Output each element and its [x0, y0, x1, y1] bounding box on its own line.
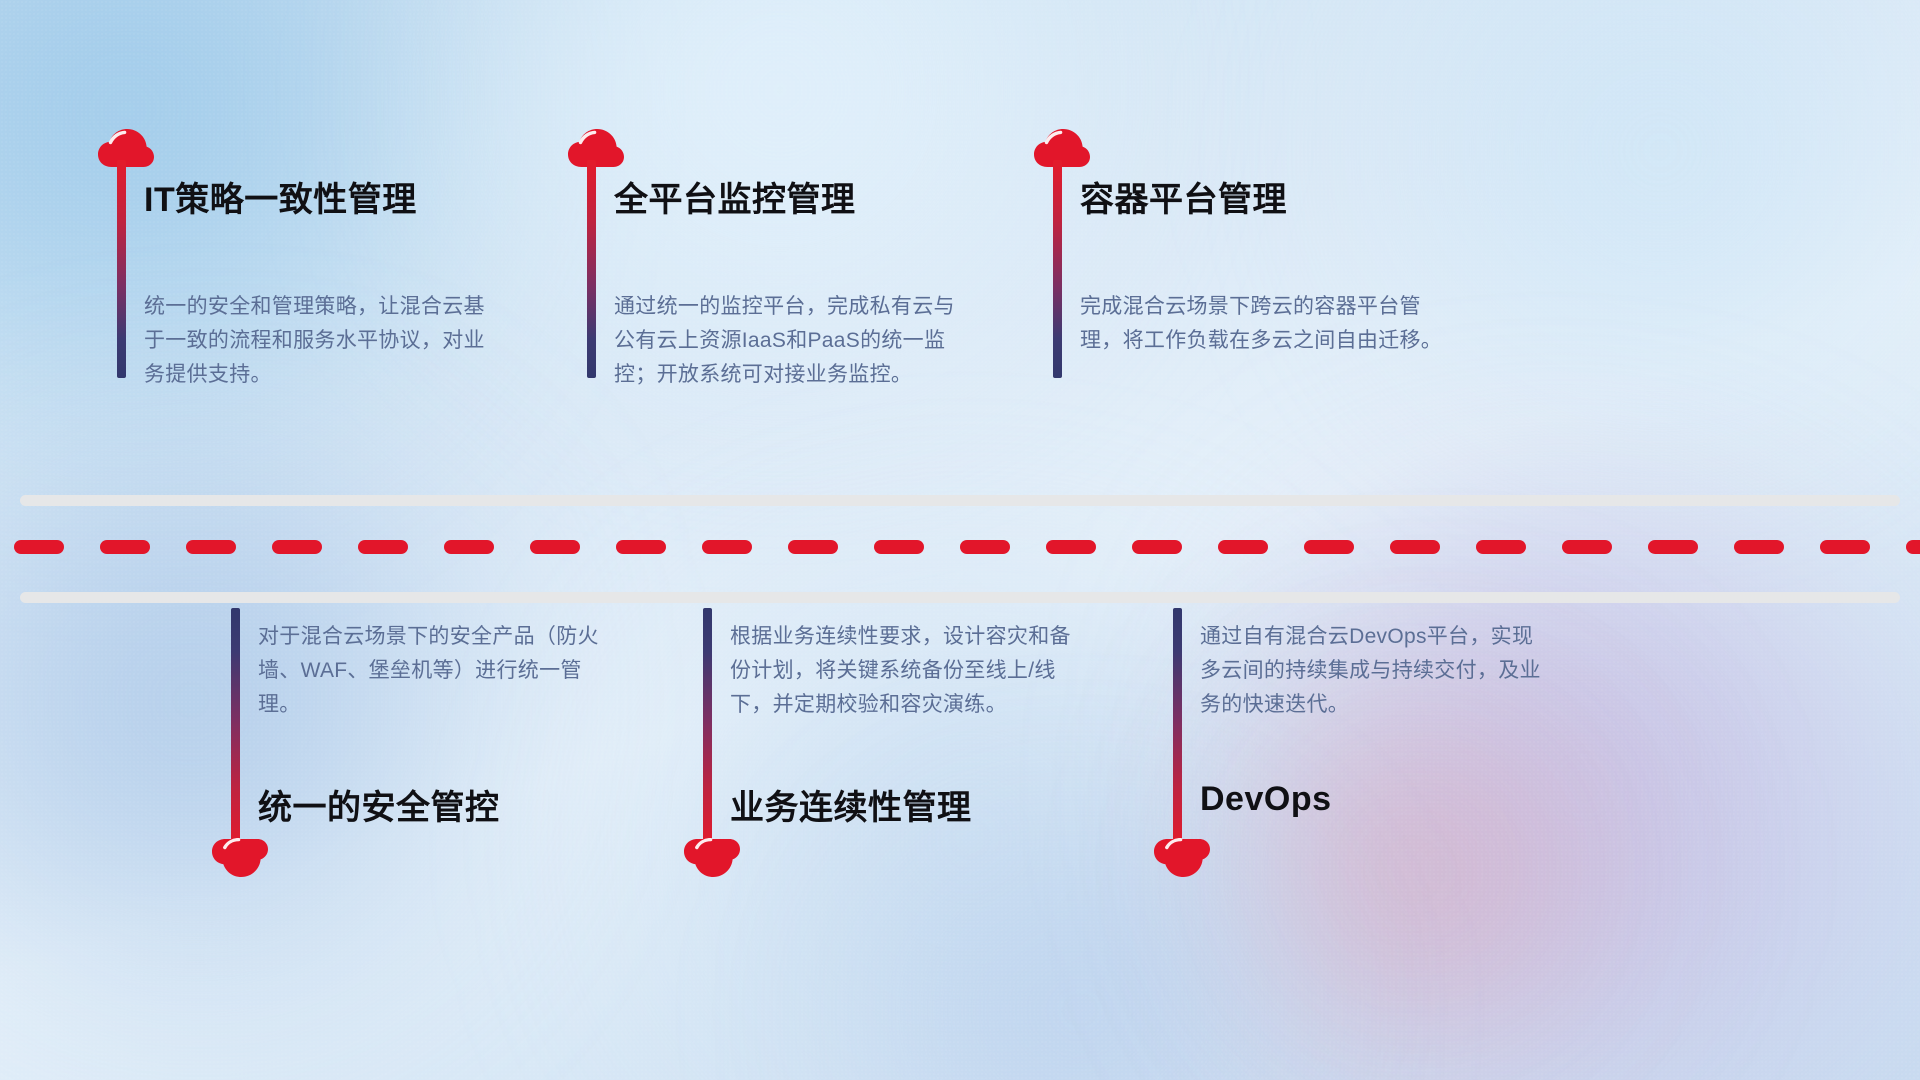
- divider-dash: [100, 540, 150, 554]
- connector-line: [1053, 160, 1062, 378]
- marker-top-1: [97, 128, 157, 168]
- divider-dash: [186, 540, 236, 554]
- divider-dash: [788, 540, 838, 554]
- divider-dash: [1820, 540, 1870, 554]
- cloud-icon: [567, 128, 625, 168]
- feature-card-business-continuity: 根据业务连续性要求，设计容灾和备份计划，将关键系统备份至线上/线下，并定期校验和…: [668, 610, 1118, 1080]
- feature-card-devops: 通过自有混合云DevOps平台，实现多云间的持续集成与持续交付，及业务的快速迭代…: [1138, 610, 1588, 1080]
- divider-dash: [530, 540, 580, 554]
- cloud-icon: [97, 128, 155, 168]
- marker-top-3: [1033, 128, 1093, 168]
- cloud-icon: [211, 838, 269, 878]
- feature-card-platform-monitoring: 全平台监控管理 通过统一的监控平台，完成私有云与公有云上资源IaaS和PaaS的…: [552, 0, 1012, 440]
- divider-dash: [1132, 540, 1182, 554]
- top-feature-row: IT策略一致性管理 统一的安全和管理策略，让混合云基于一致的流程和服务水平协议，…: [0, 0, 1920, 440]
- divider-dash: [1476, 540, 1526, 554]
- connector-line: [231, 608, 240, 848]
- feature-title: 全平台监控管理: [614, 172, 856, 221]
- dashed-divider: [0, 540, 1920, 554]
- feature-title: IT策略一致性管理: [144, 172, 417, 221]
- divider-dash: [358, 540, 408, 554]
- divider-dash: [702, 540, 752, 554]
- bottom-feature-row: 对于混合云场景下的安全产品（防火墙、WAF、堡垒机等）进行统一管理。 统一的安全…: [0, 610, 1920, 1080]
- divider-dash: [960, 540, 1010, 554]
- feature-title: DevOps: [1200, 780, 1332, 819]
- divider-dash: [14, 540, 64, 554]
- divider-dash: [1906, 540, 1920, 554]
- divider-band: [0, 440, 1920, 610]
- feature-title: 业务连续性管理: [730, 780, 972, 829]
- divider-dash: [616, 540, 666, 554]
- feature-title: 统一的安全管控: [258, 780, 500, 829]
- divider-dash: [272, 540, 322, 554]
- feature-description: 统一的安全和管理策略，让混合云基于一致的流程和服务水平协议，对业务提供支持。: [144, 290, 502, 392]
- cloud-icon: [683, 838, 741, 878]
- divider-bar-bottom: [20, 592, 1900, 603]
- divider-dash: [1390, 540, 1440, 554]
- divider-dash: [1046, 540, 1096, 554]
- cloud-icon: [1153, 838, 1211, 878]
- divider-dash: [1648, 540, 1698, 554]
- feature-card-it-policy: IT策略一致性管理 统一的安全和管理策略，让混合云基于一致的流程和服务水平协议，…: [82, 0, 522, 440]
- divider-dash: [1218, 540, 1268, 554]
- connector-line: [587, 160, 596, 378]
- connector-line: [1173, 608, 1182, 848]
- cloud-icon: [1033, 128, 1091, 168]
- feature-description: 根据业务连续性要求，设计容灾和备份计划，将关键系统备份至线上/线下，并定期校验和…: [730, 620, 1082, 722]
- divider-dash: [444, 540, 494, 554]
- divider-dash: [874, 540, 924, 554]
- feature-description: 通过统一的监控平台，完成私有云与公有云上资源IaaS和PaaS的统一监控；开放系…: [614, 290, 976, 392]
- marker-top-2: [567, 128, 627, 168]
- feature-description: 完成混合云场景下跨云的容器平台管理，将工作负载在多云之间自由迁移。: [1080, 290, 1448, 358]
- connector-line: [117, 160, 126, 378]
- feature-description: 对于混合云场景下的安全产品（防火墙、WAF、堡垒机等）进行统一管理。: [258, 620, 606, 722]
- divider-dash: [1304, 540, 1354, 554]
- feature-title: 容器平台管理: [1080, 172, 1287, 221]
- feature-description: 通过自有混合云DevOps平台，实现多云间的持续集成与持续交付，及业务的快速迭代…: [1200, 620, 1548, 722]
- divider-dash: [1734, 540, 1784, 554]
- feature-card-container-platform: 容器平台管理 完成混合云场景下跨云的容器平台管理，将工作负载在多云之间自由迁移。: [1018, 0, 1478, 440]
- feature-card-unified-security: 对于混合云场景下的安全产品（防火墙、WAF、堡垒机等）进行统一管理。 统一的安全…: [196, 610, 636, 1080]
- divider-bar-top: [20, 495, 1900, 506]
- connector-line: [703, 608, 712, 848]
- divider-dash: [1562, 540, 1612, 554]
